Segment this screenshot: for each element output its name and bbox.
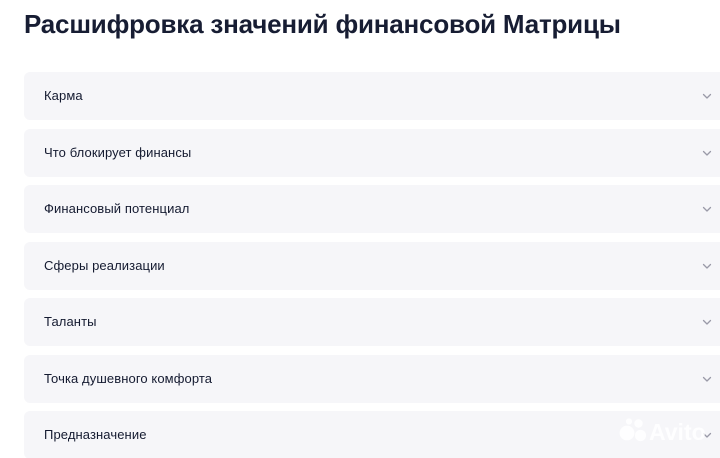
accordion-item-financial-potential[interactable]: Финансовый потенциал bbox=[24, 185, 720, 233]
page-root: Расшифровка значений финансовой Матрицы … bbox=[0, 0, 720, 458]
chevron-down-icon[interactable] bbox=[700, 89, 714, 103]
accordion-item-label: Таланты bbox=[24, 298, 97, 346]
accordion-item-karma[interactable]: Карма bbox=[24, 72, 720, 120]
accordion-item-realization-spheres[interactable]: Сферы реализации bbox=[24, 242, 720, 290]
accordion-item-label: Финансовый потенциал bbox=[24, 185, 189, 233]
chevron-down-icon[interactable] bbox=[700, 315, 714, 329]
accordion-item-purpose[interactable]: Предназначение bbox=[24, 411, 720, 458]
accordion-item-label: Точка душевного комфорта bbox=[24, 355, 212, 403]
accordion-list: Карма Что блокирует финансы Финансовый п… bbox=[24, 72, 720, 458]
page-title: Расшифровка значений финансовой Матрицы bbox=[24, 8, 621, 40]
accordion-item-label: Что блокирует финансы bbox=[24, 129, 191, 177]
accordion-item-comfort-point[interactable]: Точка душевного комфорта bbox=[24, 355, 720, 403]
accordion-item-label: Предназначение bbox=[24, 411, 147, 458]
accordion-item-label: Сферы реализации bbox=[24, 242, 165, 290]
chevron-down-icon[interactable] bbox=[700, 202, 714, 216]
chevron-down-icon[interactable] bbox=[700, 146, 714, 160]
accordion-item-finance-blockers[interactable]: Что блокирует финансы bbox=[24, 129, 720, 177]
accordion-item-talents[interactable]: Таланты bbox=[24, 298, 720, 346]
accordion-item-label: Карма bbox=[24, 72, 83, 120]
chevron-down-icon[interactable] bbox=[700, 428, 714, 442]
chevron-down-icon[interactable] bbox=[700, 259, 714, 273]
chevron-down-icon[interactable] bbox=[700, 372, 714, 386]
